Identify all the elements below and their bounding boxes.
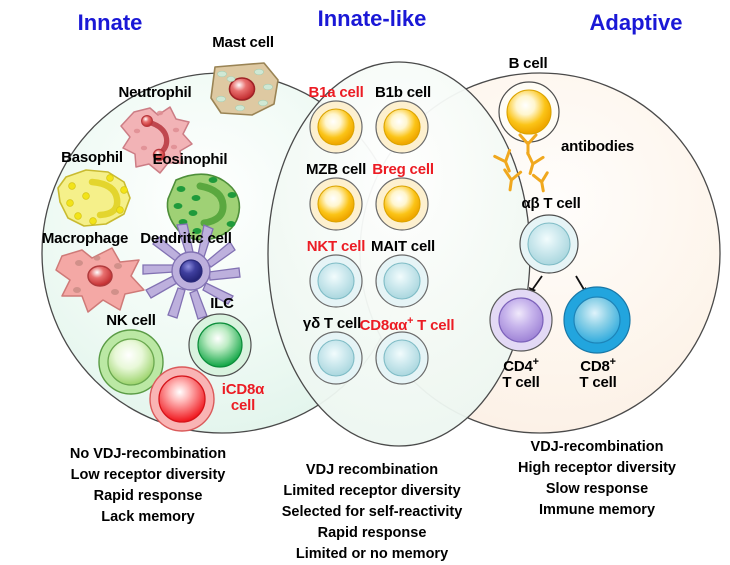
label-cd4-sup: + [533, 356, 539, 368]
footer-innate-like-line: Selected for self-reactivity [282, 502, 463, 523]
footer-adaptive-line: VDJ-recombination [518, 437, 676, 458]
label-mzb-cell: MZB cell [306, 162, 366, 178]
cell-b1b-cell [376, 101, 428, 153]
footer-adaptive-line: Slow response [518, 479, 676, 500]
title-adaptive: Adaptive [590, 10, 683, 36]
cell-mzb-cell [310, 178, 362, 230]
label-basophil: Basophil [61, 150, 123, 166]
label-nkt-cell: NKT cell [307, 239, 365, 255]
label-cd8aa-t-cell: CD8αα+ T cell [360, 316, 455, 334]
label-neutrophil: Neutrophil [119, 85, 192, 101]
cell-cd4-t-cell [490, 289, 552, 351]
footer-innate-line: Rapid response [70, 486, 226, 507]
footer-innate-line: Low receptor diversity [70, 465, 226, 486]
cell-icd8a-cell [150, 367, 214, 431]
label-dendritic-cell: Dendritic cell [140, 231, 231, 247]
cell-cd8aa-t-cell [376, 332, 428, 384]
venn-diagram-canvas: Innate Innate-like Adaptive Mast cell Ne… [0, 0, 730, 548]
label-cd8aa-pre: CD8αα [360, 317, 407, 334]
cell-mast-cell [211, 63, 278, 115]
footer-innate-like-line: Rapid response [282, 523, 463, 544]
cell-b-cell [499, 82, 559, 142]
label-icd8a-line1: iCD8α [222, 381, 264, 398]
footer-innate: No VDJ-recombination Low receptor divers… [70, 444, 226, 528]
footer-innate-like-line: Limited receptor diversity [282, 481, 463, 502]
label-cd8aa-post: T cell [413, 317, 454, 334]
title-innate: Innate [78, 10, 143, 36]
label-cd8-line2: T cell [579, 374, 616, 391]
footer-innate-like-line: VDJ recombination [282, 460, 463, 481]
cell-b1a-cell [310, 101, 362, 153]
label-ilc: ILC [210, 296, 234, 312]
label-antibodies: antibodies [561, 139, 634, 155]
cell-cd8-t-cell [564, 287, 630, 353]
label-cd4-t-cell: CD4+T cell [502, 357, 539, 391]
label-icd8a-line2: cell [231, 397, 255, 414]
cell-nkt-cell [310, 255, 362, 307]
footer-innate-like: VDJ recombination Limited receptor diver… [282, 460, 463, 565]
label-cd8-sup: + [610, 356, 616, 368]
label-ab-t-cell: αβ T cell [521, 196, 580, 212]
label-breg-cell: Breg cell [372, 162, 434, 178]
label-nk-cell: NK cell [106, 313, 155, 329]
label-b1b-cell: B1b cell [375, 85, 431, 101]
label-gamma-delta-t-cell: γδ T cell [303, 316, 361, 332]
label-cd8-t-cell: CD8+T cell [579, 357, 616, 391]
cell-ab-t-cell [520, 215, 578, 273]
footer-innate-like-line: Limited or no memory [282, 544, 463, 565]
label-b1a-cell: B1a cell [308, 85, 363, 101]
label-macrophage: Macrophage [42, 231, 128, 247]
label-cd4-pre: CD4 [503, 358, 532, 375]
footer-innate-line: Lack memory [70, 507, 226, 528]
label-mait-cell: MAIT cell [371, 239, 435, 255]
title-innate-like: Innate-like [318, 6, 427, 32]
cell-gamma-delta-t-cell [310, 332, 362, 384]
label-icd8a-cell: iCD8α cell [222, 382, 264, 414]
label-mast-cell: Mast cell [212, 35, 274, 51]
footer-adaptive-line: Immune memory [518, 500, 676, 521]
label-cd8-pre: CD8 [580, 358, 609, 375]
footer-adaptive: VDJ-recombination High receptor diversit… [518, 437, 676, 521]
footer-innate-line: No VDJ-recombination [70, 444, 226, 465]
footer-adaptive-line: High receptor diversity [518, 458, 676, 479]
cell-mait-cell [376, 255, 428, 307]
label-b-cell: B cell [509, 56, 548, 72]
label-eosinophil: Eosinophil [153, 152, 228, 168]
cell-ilc [189, 314, 251, 376]
cell-breg-cell [376, 178, 428, 230]
label-cd4-line2: T cell [502, 374, 539, 391]
